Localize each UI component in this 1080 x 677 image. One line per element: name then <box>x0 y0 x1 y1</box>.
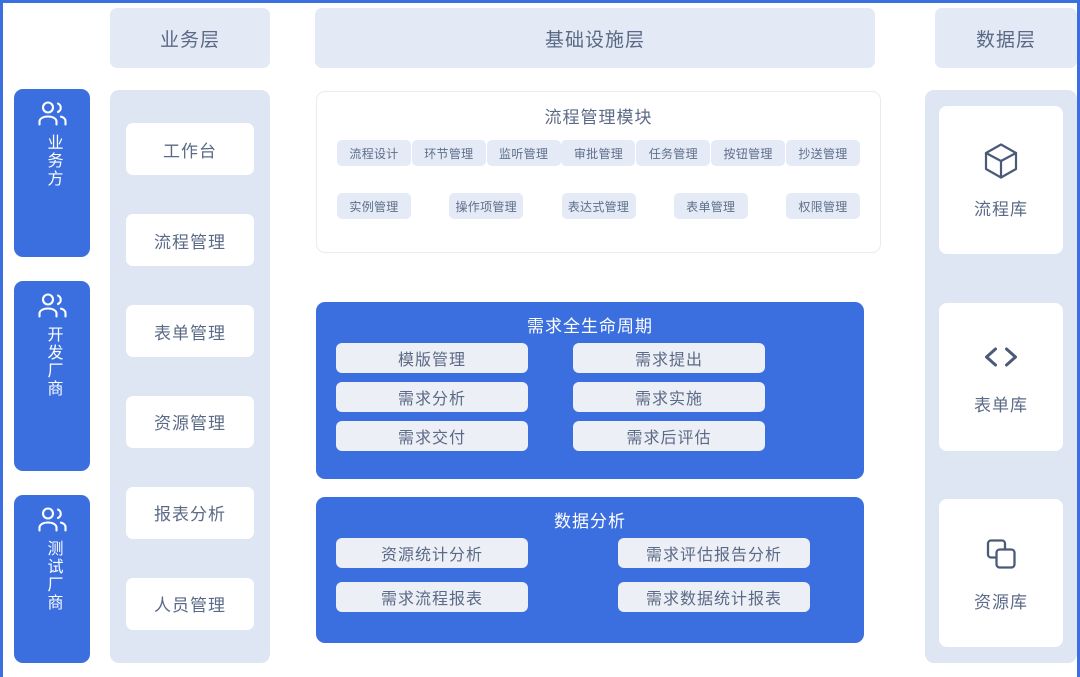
flow-tag-label: 权限管理 <box>798 198 847 215</box>
business-item-workbench[interactable]: 工作台 <box>126 123 254 175</box>
flow-tag-listener-management[interactable]: 监听管理 <box>487 140 561 166</box>
actor-column: 业务方 开发厂商 测试厂商 <box>14 89 90 663</box>
cube-icon <box>981 141 1021 181</box>
data-analytics-panel: 数据分析 资源统计分析 需求评估报告分析 需求流程报表 需求数据统计报表 <box>316 497 864 643</box>
data-card-resource-library[interactable]: 资源库 <box>939 499 1063 647</box>
requirement-lifecycle-title: 需求全生命周期 <box>316 302 864 337</box>
flow-tag-operation-item-management[interactable]: 操作项管理 <box>449 193 523 219</box>
flow-tag-label: 表达式管理 <box>568 198 630 215</box>
flow-tag-permission-management[interactable]: 权限管理 <box>786 193 860 219</box>
data-analytics-title: 数据分析 <box>316 497 864 532</box>
header-business-layer: 业务层 <box>110 8 270 68</box>
lifecycle-item-label: 需求分析 <box>398 385 466 409</box>
business-item-label: 流程管理 <box>154 228 226 253</box>
header-data-layer-label: 数据层 <box>976 25 1036 52</box>
data-card-form-library[interactable]: 表单库 <box>939 303 1063 451</box>
business-item-form-management[interactable]: 表单管理 <box>126 305 254 357</box>
lifecycle-item-label: 需求交付 <box>398 424 466 448</box>
analytics-item-resource-statistics[interactable]: 资源统计分析 <box>336 538 528 568</box>
actor-card-dev-vendor[interactable]: 开发厂商 <box>14 281 90 471</box>
business-item-label: 工作台 <box>163 137 217 162</box>
lifecycle-item-requirement-implementation[interactable]: 需求实施 <box>573 382 765 412</box>
header-infrastructure-layer-label: 基础设施层 <box>545 25 645 52</box>
flow-tag-node-management[interactable]: 环节管理 <box>412 140 486 166</box>
flow-tag-cc-management[interactable]: 抄送管理 <box>786 140 860 166</box>
users-icon <box>36 100 68 128</box>
data-card-label: 表单库 <box>974 391 1028 416</box>
lifecycle-item-label: 需求实施 <box>635 385 703 409</box>
flow-tag-label: 流程设计 <box>349 145 398 162</box>
flow-tag-label: 环节管理 <box>424 145 473 162</box>
users-icon <box>36 506 68 534</box>
actor-card-label: 开发厂商 <box>43 326 62 398</box>
flow-tag-form-management[interactable]: 表单管理 <box>674 193 748 219</box>
users-icon <box>36 292 68 320</box>
flow-tag-label: 操作项管理 <box>455 198 517 215</box>
data-card-label: 流程库 <box>974 195 1028 220</box>
actor-card-label: 业务方 <box>43 134 62 188</box>
business-layer-panel: 工作台 流程管理 表单管理 资源管理 报表分析 人员管理 <box>110 90 270 663</box>
flow-tag-process-design[interactable]: 流程设计 <box>337 140 411 166</box>
flow-tag-button-management[interactable]: 按钮管理 <box>711 140 785 166</box>
business-item-label: 表单管理 <box>154 319 226 344</box>
data-card-process-library[interactable]: 流程库 <box>939 106 1063 254</box>
flow-tag-label: 抄送管理 <box>798 145 847 162</box>
analytics-item-requirement-data-statistics-report[interactable]: 需求数据统计报表 <box>618 582 810 612</box>
requirement-lifecycle-items: 模版管理 需求提出 需求分析 需求实施 需求交付 需求后评估 <box>316 337 864 451</box>
header-business-layer-label: 业务层 <box>160 25 220 52</box>
business-item-label: 报表分析 <box>154 500 226 525</box>
header-data-layer: 数据层 <box>935 8 1077 68</box>
flow-management-tag-list: 流程设计 环节管理 监听管理 审批管理 任务管理 按钮管理 抄送管理 实例管理 <box>317 128 880 219</box>
analytics-item-label: 资源统计分析 <box>381 541 483 565</box>
data-analytics-items: 资源统计分析 需求评估报告分析 需求流程报表 需求数据统计报表 <box>316 532 864 612</box>
business-item-report-analysis[interactable]: 报表分析 <box>126 487 254 539</box>
flow-tag-approval-management[interactable]: 审批管理 <box>561 140 635 166</box>
flow-tag-expression-management[interactable]: 表达式管理 <box>562 193 636 219</box>
flow-tag-label: 监听管理 <box>499 145 548 162</box>
business-item-process-management[interactable]: 流程管理 <box>126 214 254 266</box>
data-layer-panel: 流程库 表单库 资源库 <box>925 90 1077 663</box>
lifecycle-item-requirement-analysis[interactable]: 需求分析 <box>336 382 528 412</box>
business-item-label: 人员管理 <box>154 591 226 616</box>
header-infrastructure-layer: 基础设施层 <box>315 8 875 68</box>
code-brackets-icon <box>981 337 1021 377</box>
flow-tag-label: 任务管理 <box>649 145 698 162</box>
analytics-item-requirement-process-report[interactable]: 需求流程报表 <box>336 582 528 612</box>
analytics-item-label: 需求评估报告分析 <box>646 541 782 565</box>
flow-management-module-card: 流程管理模块 流程设计 环节管理 监听管理 审批管理 任务管理 按钮管理 抄送管… <box>316 91 881 253</box>
data-card-label: 资源库 <box>974 588 1028 613</box>
flow-management-module-title: 流程管理模块 <box>317 103 880 128</box>
lifecycle-item-label: 模版管理 <box>398 346 466 370</box>
actor-card-label: 测试厂商 <box>43 540 62 612</box>
architecture-diagram: 业务层 基础设施层 数据层 业务方 <box>0 0 1080 677</box>
lifecycle-item-label: 需求后评估 <box>626 424 711 448</box>
lifecycle-item-label: 需求提出 <box>635 346 703 370</box>
analytics-item-label: 需求流程报表 <box>381 585 483 609</box>
business-item-label: 资源管理 <box>154 409 226 434</box>
lifecycle-item-requirement-delivery[interactable]: 需求交付 <box>336 421 528 451</box>
actor-card-test-vendor[interactable]: 测试厂商 <box>14 495 90 663</box>
analytics-item-label: 需求数据统计报表 <box>646 585 782 609</box>
requirement-lifecycle-panel: 需求全生命周期 模版管理 需求提出 需求分析 需求实施 需求交付 需求后评估 <box>316 302 864 479</box>
lifecycle-item-template-management[interactable]: 模版管理 <box>336 343 528 373</box>
flow-tag-label: 审批管理 <box>574 145 623 162</box>
business-item-resource-management[interactable]: 资源管理 <box>126 396 254 448</box>
flow-tag-label: 表单管理 <box>686 198 735 215</box>
actor-card-business-party[interactable]: 业务方 <box>14 89 90 257</box>
analytics-item-requirement-evaluation-report[interactable]: 需求评估报告分析 <box>618 538 810 568</box>
lifecycle-item-requirement-submit[interactable]: 需求提出 <box>573 343 765 373</box>
copy-layers-icon <box>981 534 1021 574</box>
flow-tag-task-management[interactable]: 任务管理 <box>636 140 710 166</box>
flow-tag-label: 实例管理 <box>349 198 398 215</box>
business-item-personnel-management[interactable]: 人员管理 <box>126 578 254 630</box>
flow-tag-label: 按钮管理 <box>724 145 773 162</box>
lifecycle-item-post-requirement-evaluation[interactable]: 需求后评估 <box>573 421 765 451</box>
flow-tag-instance-management[interactable]: 实例管理 <box>337 193 411 219</box>
